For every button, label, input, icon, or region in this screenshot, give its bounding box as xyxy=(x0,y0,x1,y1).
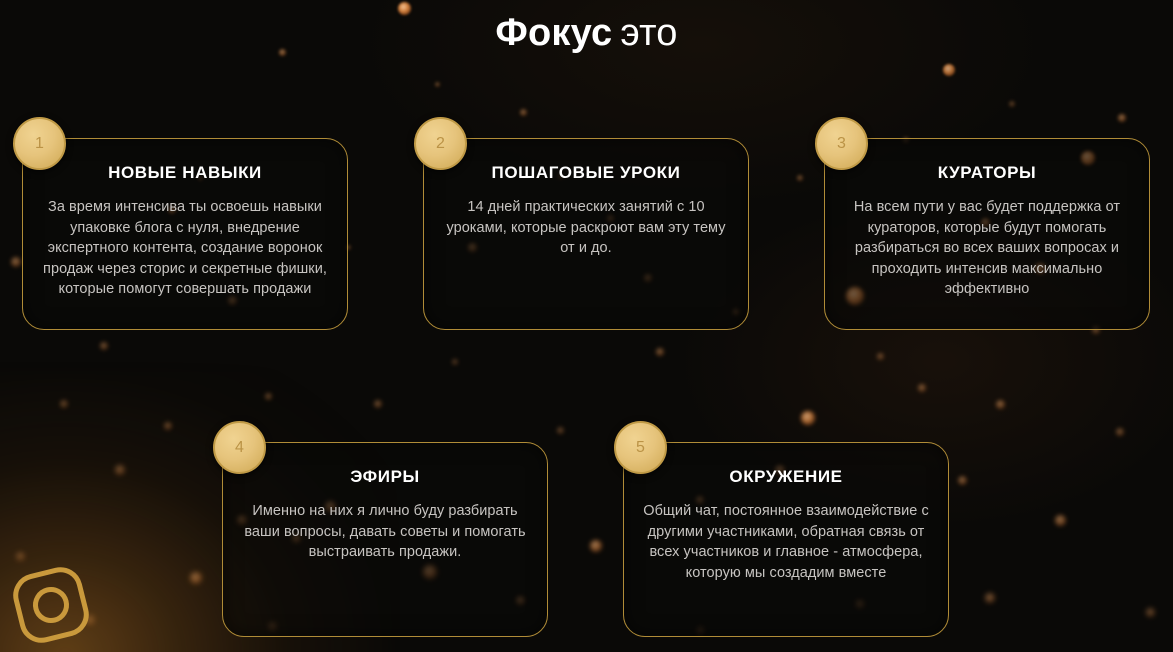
feature-card-1[interactable]: 1 НОВЫЕ НАВЫКИ За время интенсива ты осв… xyxy=(22,138,348,330)
slide-canvas: Фокусэто 1 НОВЫЕ НАВЫКИ За время интенси… xyxy=(0,0,1173,652)
bokeh-dot xyxy=(520,109,527,116)
card-title: ОКРУЖЕНИЕ xyxy=(640,467,932,487)
card-number-badge: 3 xyxy=(815,117,868,170)
card-body: Общий чат, постоянное взаимодействие с д… xyxy=(642,501,930,583)
bokeh-dot xyxy=(797,175,803,181)
feature-card-3[interactable]: 3 КУРАТОРЫ На всем пути у вас будет подд… xyxy=(824,138,1150,330)
card-number-label: 2 xyxy=(436,135,445,153)
feature-card-5[interactable]: 5 ОКРУЖЕНИЕ Общий чат, постоянное взаимо… xyxy=(623,442,949,637)
card-title: КУРАТОРЫ xyxy=(841,163,1133,183)
bokeh-dot xyxy=(1118,114,1126,122)
bokeh-dot xyxy=(656,348,664,356)
bokeh-dot xyxy=(943,64,955,76)
bokeh-dot xyxy=(985,593,995,603)
bokeh-dot xyxy=(435,82,440,87)
card-title: НОВЫЕ НАВЫКИ xyxy=(39,163,331,183)
bokeh-dot xyxy=(996,400,1005,409)
page-title-light: это xyxy=(620,12,677,54)
instagram-logo-icon xyxy=(4,558,99,652)
card-number-badge: 1 xyxy=(13,117,66,170)
card-number-label: 5 xyxy=(636,439,645,457)
bokeh-dot xyxy=(164,422,172,430)
bokeh-dot xyxy=(11,257,21,267)
bokeh-dot xyxy=(1009,101,1015,107)
card-number-label: 1 xyxy=(35,135,44,153)
card-number-label: 4 xyxy=(235,439,244,457)
feature-card-4[interactable]: 4 ЭФИРЫ Именно на них я лично буду разби… xyxy=(222,442,548,637)
card-body: 14 дней практических занятий с 10 урокам… xyxy=(438,197,734,259)
bokeh-dot xyxy=(60,400,68,408)
bokeh-dot xyxy=(452,359,458,365)
card-body: За время интенсива ты освоешь навыки упа… xyxy=(41,197,329,300)
card-number-badge: 2 xyxy=(414,117,467,170)
bokeh-dot xyxy=(590,540,602,552)
card-number-badge: 4 xyxy=(213,421,266,474)
bokeh-dot xyxy=(918,384,926,392)
page-title: Фокусэто xyxy=(0,6,1173,60)
bokeh-dot xyxy=(265,393,272,400)
card-number-badge: 5 xyxy=(614,421,667,474)
bokeh-dot xyxy=(100,342,108,350)
bokeh-dot xyxy=(16,552,25,561)
card-title: ЭФИРЫ xyxy=(239,467,531,487)
bokeh-dot xyxy=(958,476,967,485)
bokeh-dot xyxy=(801,411,815,425)
bokeh-dot xyxy=(877,353,884,360)
card-body: Именно на них я лично буду разбирать ваш… xyxy=(237,501,533,563)
bokeh-dot xyxy=(374,400,382,408)
card-number-label: 3 xyxy=(837,135,846,153)
card-title: ПОШАГОВЫЕ УРОКИ xyxy=(440,163,732,183)
card-body: На всем пути у вас будет поддержка от ку… xyxy=(843,197,1131,300)
bokeh-dot xyxy=(115,465,125,475)
bokeh-dot xyxy=(1055,515,1066,526)
bokeh-dot xyxy=(1146,608,1155,617)
page-title-strong: Фокус xyxy=(495,12,612,54)
bokeh-dot xyxy=(557,427,564,434)
feature-card-2[interactable]: 2 ПОШАГОВЫЕ УРОКИ 14 дней практических з… xyxy=(423,138,749,330)
bokeh-dot xyxy=(190,572,202,584)
bokeh-dot xyxy=(1116,428,1124,436)
